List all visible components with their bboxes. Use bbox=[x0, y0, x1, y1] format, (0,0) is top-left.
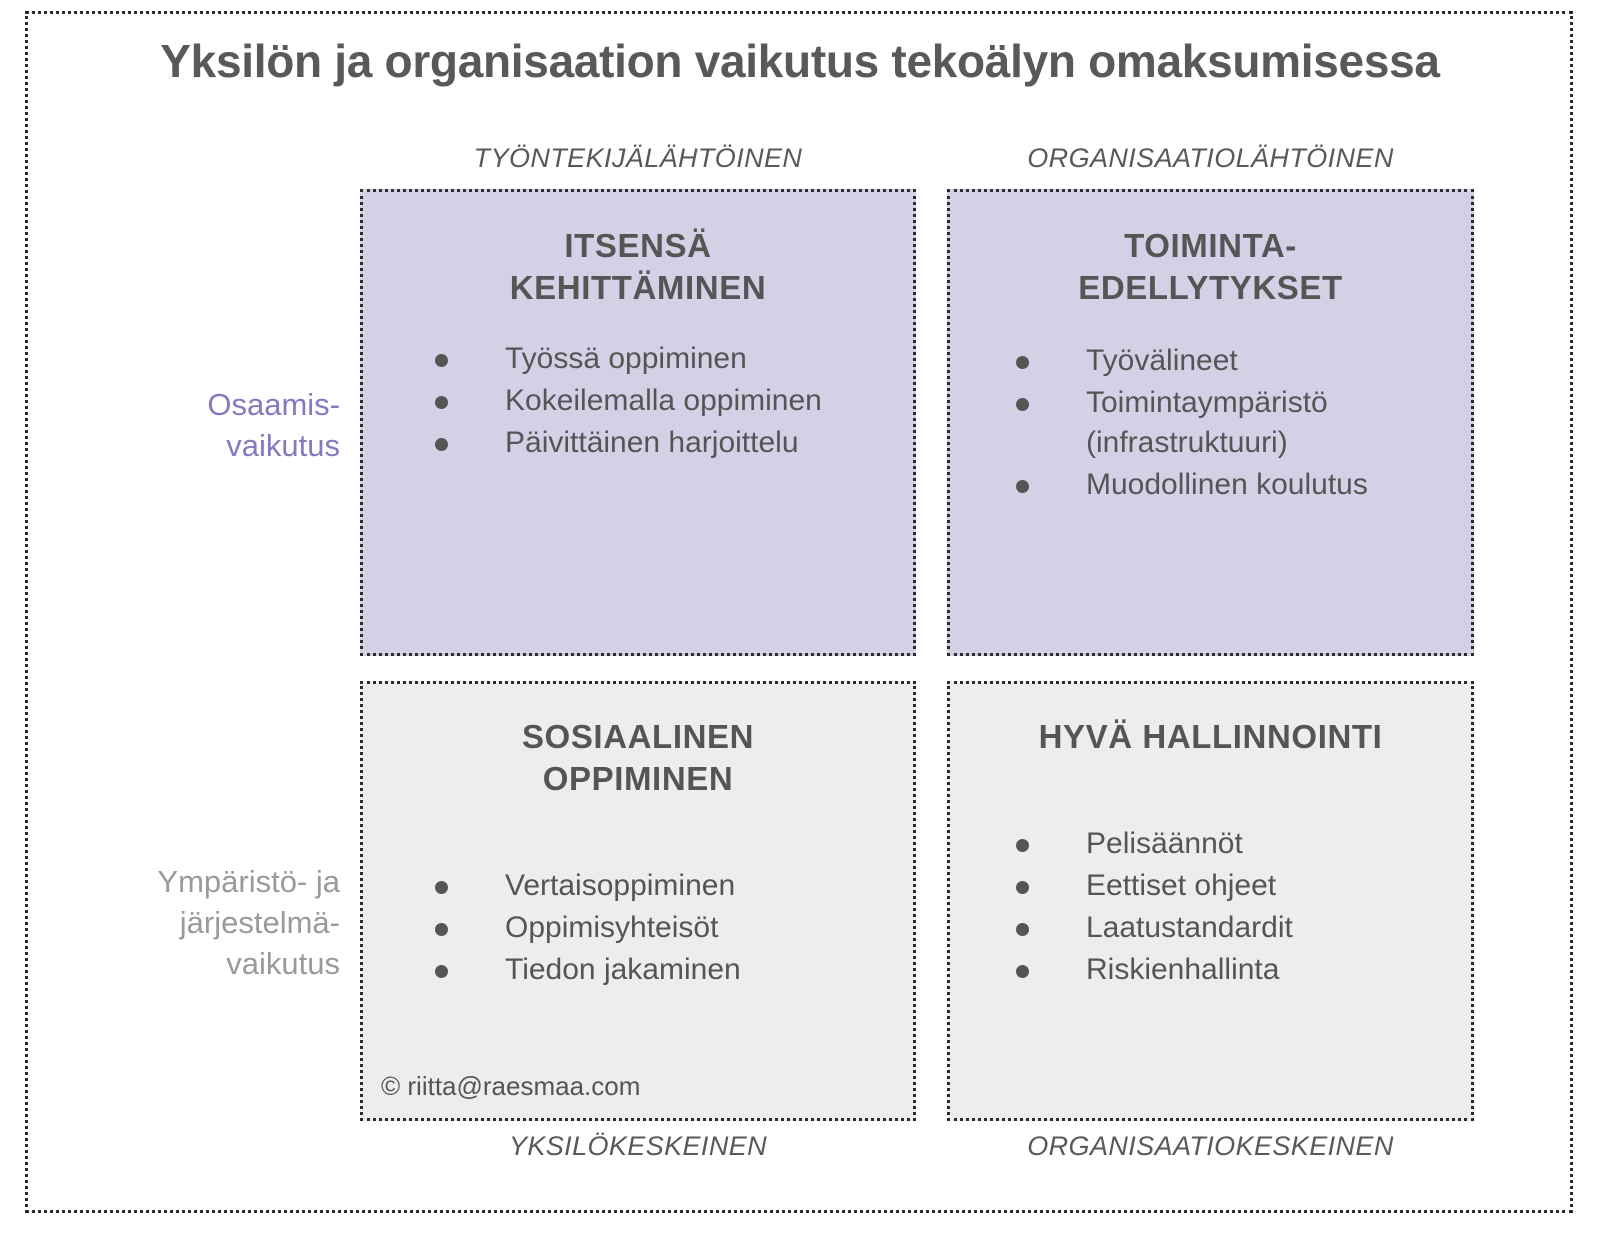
list-item: Vertaisoppiminen bbox=[431, 866, 861, 906]
list-item: Oppimisyhteisöt bbox=[431, 908, 861, 948]
quadrant-title: SOSIAALINEN OPPIMINEN bbox=[393, 716, 883, 800]
copyright-credit: © riitta@raesmaa.com bbox=[381, 1071, 640, 1102]
quadrant-title: TOIMINTA- EDELLYTYKSET bbox=[976, 225, 1445, 309]
list-item: Toimintaympäristö (infrastruktuuri) bbox=[1012, 383, 1460, 463]
axis-label-top-right: ORGANISAATIOLÄHTÖINEN bbox=[947, 143, 1474, 174]
quadrant-sosiaalinen-oppiminen: SOSIAALINEN OPPIMINEN Vertaisoppiminen O… bbox=[360, 681, 916, 1121]
list-item: Muodollinen koulutus bbox=[1012, 465, 1460, 505]
quadrant-hyva-hallinnointi: HYVÄ HALLINNOINTI Pelisäännöt Eettiset o… bbox=[947, 681, 1474, 1121]
axis-label-bottom-right: ORGANISAATIOKESKEINEN bbox=[947, 1131, 1474, 1162]
list-item: Riskienhallinta bbox=[1012, 950, 1452, 990]
list-item: Tiedon jakaminen bbox=[431, 950, 861, 990]
quadrant-itsensa-kehittaminen: ITSENSÄ KEHITTÄMINEN Työssä oppiminen Ko… bbox=[360, 189, 916, 656]
diagram-canvas: Yksilön ja organisaation vaikutus tekoäl… bbox=[0, 0, 1600, 1233]
row-label-ymparistovaikutus: Ympäristö- ja järjestelmä- vaikutus bbox=[60, 862, 340, 985]
quadrant-title: ITSENSÄ KEHITTÄMINEN bbox=[393, 225, 883, 309]
axis-label-bottom-left: YKSILÖKESKEINEN bbox=[360, 1131, 916, 1162]
quadrant-bullet-list: Pelisäännöt Eettiset ohjeet Laatustandar… bbox=[1012, 824, 1452, 990]
list-item: Kokeilemalla oppiminen bbox=[431, 381, 861, 421]
quadrant-toimintaedellytykset: TOIMINTA- EDELLYTYKSET Työvälineet Toimi… bbox=[947, 189, 1474, 656]
quadrant-bullet-list: Työssä oppiminen Kokeilemalla oppiminen … bbox=[431, 339, 861, 463]
row-label-osaamisvaikutus: Osaamis- vaikutus bbox=[60, 385, 340, 467]
quadrant-bullet-list: Vertaisoppiminen Oppimisyhteisöt Tiedon … bbox=[431, 866, 861, 990]
list-item: Laatustandardit bbox=[1012, 908, 1452, 948]
list-item: Työvälineet bbox=[1012, 341, 1460, 381]
list-item: Työssä oppiminen bbox=[431, 339, 861, 379]
quadrant-bullet-list: Työvälineet Toimintaympäristö (infrastru… bbox=[1012, 341, 1460, 505]
list-item: Pelisäännöt bbox=[1012, 824, 1452, 864]
quadrant-title: HYVÄ HALLINNOINTI bbox=[976, 716, 1445, 758]
page-title: Yksilön ja organisaation vaikutus tekoäl… bbox=[45, 34, 1555, 88]
axis-label-top-left: TYÖNTEKIJÄLÄHTÖINEN bbox=[360, 143, 916, 174]
list-item: Päivittäinen harjoittelu bbox=[431, 423, 861, 463]
list-item: Eettiset ohjeet bbox=[1012, 866, 1452, 906]
